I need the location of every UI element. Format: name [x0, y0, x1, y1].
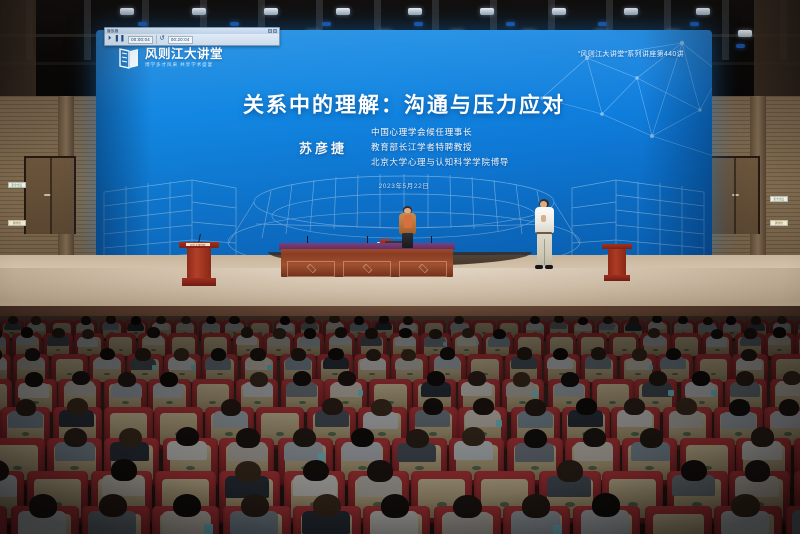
audience-member-head	[174, 348, 189, 361]
audience-member-head	[783, 371, 800, 386]
wall-sign-fire-right: 消防栓	[770, 220, 788, 226]
audience-member-head	[453, 495, 481, 519]
audience-member-head	[554, 316, 564, 323]
audience-member-head	[524, 429, 547, 448]
audience-member-head	[522, 494, 550, 518]
audience-member-head	[367, 460, 393, 481]
upper-wall-right	[754, 0, 800, 96]
upper-wall-left	[0, 0, 36, 96]
audience-member-head	[100, 348, 115, 361]
audience-member-head	[64, 428, 87, 447]
window-buttons[interactable]	[268, 29, 278, 32]
audience-member-head	[530, 316, 540, 324]
audience-member-head	[366, 349, 381, 362]
audience-member-head	[561, 372, 579, 387]
audience-member-head	[666, 348, 681, 361]
seat-badge	[276, 349, 281, 351]
audience-member-head	[703, 317, 713, 325]
stage-light-fixture	[264, 8, 278, 15]
audience-member-head	[119, 428, 142, 447]
seat-badge	[735, 432, 743, 436]
audience-member-head	[578, 317, 588, 325]
audience-member-head	[221, 399, 242, 416]
audience-member-head	[678, 316, 688, 324]
audience-member-head	[591, 347, 606, 360]
audience-member-head	[67, 398, 88, 415]
audience-member-head	[525, 399, 546, 416]
audience-member-head	[423, 398, 444, 415]
audience-member-head	[517, 347, 532, 360]
blue-led-fixture	[690, 22, 699, 26]
audience-member-head	[726, 316, 736, 324]
audience-member-head	[624, 398, 645, 415]
audience-member-head	[52, 328, 65, 338]
divider	[156, 35, 157, 44]
audience-member-head	[379, 316, 389, 324]
wall-sign-exit-right: 安全出口	[770, 196, 788, 202]
seat-badge	[622, 349, 627, 351]
play-icon[interactable]: ⏵	[108, 36, 111, 43]
audience-member-head	[273, 328, 286, 338]
audience-member-head	[176, 427, 199, 446]
series-label: “风则江大讲堂”系列讲座第440讲	[578, 49, 684, 59]
seat-badge	[328, 432, 336, 436]
phone	[788, 327, 791, 330]
audience-member-head	[131, 316, 141, 324]
total-time: 00:20:04	[168, 36, 193, 44]
audience-member-head	[181, 316, 191, 324]
player-window-label: 播放器	[107, 29, 118, 34]
audience-member-head	[328, 348, 343, 361]
audience-member-head	[25, 348, 40, 361]
audience-member-torso	[0, 357, 7, 370]
audience-member-head	[303, 460, 329, 481]
phone	[267, 365, 272, 370]
audience-member-head	[81, 316, 91, 324]
audience-member-head	[329, 316, 339, 323]
speaker-credentials: 中国心理学会候任理事长 教育部长江学者特聘教授 北京大学心理与认知科学学院博导	[371, 126, 509, 168]
audience-member-head	[736, 371, 754, 386]
audience-member-head	[583, 428, 606, 447]
phone	[711, 390, 717, 396]
audience-member-head	[751, 316, 761, 324]
stage-light-fixture	[120, 8, 134, 15]
audience-member-head	[235, 461, 261, 482]
audience-member-head	[335, 327, 348, 337]
podium-left: 绍兴文理学院	[182, 242, 216, 290]
pause-icon[interactable]: ❚❚	[114, 36, 125, 43]
phone	[358, 390, 364, 396]
seat-badge	[784, 432, 792, 436]
stage-light-fixture	[336, 8, 350, 15]
audience-member-head	[493, 329, 506, 339]
audience-member-head	[21, 327, 34, 337]
audience-member-head	[403, 316, 413, 324]
audience-member-head	[291, 348, 306, 361]
phone	[204, 524, 213, 533]
audience-member-head	[111, 459, 137, 480]
audience-member-head	[603, 316, 613, 324]
audience-row	[0, 506, 800, 534]
audience-member-head	[99, 494, 127, 518]
audience-member-head	[338, 371, 356, 386]
audience-member-head	[147, 327, 160, 337]
stage-light-fixture	[624, 8, 638, 15]
audience-member-head	[681, 460, 707, 481]
audience-member-head	[649, 371, 667, 386]
audience-member-head	[462, 427, 485, 446]
maximize-icon[interactable]	[273, 29, 277, 32]
audience-member-head	[351, 428, 374, 447]
podium-nameplate: 绍兴文理学院	[186, 243, 210, 246]
audience-seating	[0, 316, 800, 534]
phone	[152, 365, 157, 370]
minimize-icon[interactable]	[268, 29, 272, 32]
head-table	[281, 243, 453, 277]
audience-member-head	[313, 494, 341, 518]
audience-member-head	[29, 494, 57, 518]
audience-member-head	[354, 316, 364, 324]
audience-member-head	[777, 316, 787, 324]
seat-badge	[22, 432, 30, 436]
seat-badge	[433, 349, 438, 351]
audience-member-head	[731, 494, 759, 518]
stage-light-fixture	[408, 8, 422, 15]
seat-badge	[358, 466, 367, 470]
audience-member-head	[72, 371, 90, 386]
audience-member-head	[557, 460, 583, 481]
blue-led-fixture	[138, 22, 147, 26]
podium-body	[187, 248, 211, 278]
audience-member-head	[652, 316, 662, 323]
blue-led-fixture	[230, 22, 239, 26]
audience-seat	[645, 506, 713, 534]
stage-light-fixture	[480, 8, 494, 15]
seat-badge	[684, 349, 689, 351]
seat-badge	[166, 401, 173, 404]
audience-member-head	[293, 371, 311, 386]
audience-member-head	[429, 329, 442, 339]
blue-led-fixture	[322, 22, 331, 26]
blue-led-fixture	[736, 44, 745, 48]
audience-member-head	[280, 316, 290, 324]
podium-right	[604, 244, 630, 284]
audience-member-head	[322, 398, 343, 415]
audience-member-head	[106, 316, 116, 324]
podium-body	[608, 249, 626, 275]
audience-member-head	[462, 328, 475, 338]
phone	[532, 391, 538, 397]
elapsed-time: 00:00:04	[128, 36, 153, 44]
audience-member-head	[206, 316, 216, 324]
audience-member-head	[676, 398, 697, 415]
phone	[496, 420, 502, 427]
person-host	[398, 206, 418, 250]
stage-light-fixture	[192, 8, 206, 15]
seat-badge	[653, 349, 658, 351]
seat-badge	[225, 432, 233, 436]
audience-member-head	[250, 348, 265, 361]
audience-member-head	[629, 316, 639, 324]
audience-member-head	[744, 328, 757, 338]
audience-member-head	[173, 494, 201, 518]
seat-badge	[645, 466, 654, 470]
seat-badge	[254, 401, 261, 404]
seat-badge	[13, 466, 22, 470]
audience-member-head	[241, 327, 254, 337]
audience-member-head	[553, 348, 568, 361]
seat-badge	[299, 401, 306, 404]
audience-member-head	[381, 494, 409, 518]
audience-member-head	[365, 328, 378, 338]
audience-member-head	[592, 493, 620, 517]
audience-member-head	[25, 372, 43, 387]
audience-member-head	[250, 372, 268, 387]
podium-base	[604, 275, 630, 281]
audience-member-head	[576, 398, 597, 415]
audience-member-head	[8, 316, 18, 324]
audience-member-head	[293, 428, 316, 447]
audience-member-head	[118, 372, 136, 387]
audience-member-head	[406, 429, 429, 448]
brand-name: 风则江大讲堂	[145, 48, 223, 61]
seat-badge	[151, 349, 156, 351]
blue-led-fixture	[414, 22, 423, 26]
slide-title: 关系中的理解：沟通与压力应对	[96, 89, 712, 119]
phone	[443, 342, 447, 346]
wall-sign-fire-left: 消防栓	[8, 220, 26, 226]
media-player-overlay[interactable]: 播放器 ⏵ ❚❚ 00:00:04 ↺ 00:20:04	[104, 27, 280, 46]
audience-member-head	[640, 428, 663, 447]
credential-line: 教育部长江学者特聘教授	[371, 141, 509, 153]
stage-light-fixture	[738, 30, 752, 37]
audience-member-head	[229, 316, 239, 324]
audience-member-head	[440, 347, 455, 360]
audience-member-head	[745, 460, 771, 481]
door-handle	[44, 194, 51, 196]
seat-badge	[429, 432, 437, 436]
seat-back	[653, 514, 704, 534]
loop-icon[interactable]: ↺	[159, 36, 164, 43]
table-skirt	[281, 249, 453, 277]
audience-member-head	[241, 494, 269, 518]
book-logo-icon	[118, 46, 140, 70]
podium-base	[182, 278, 216, 286]
speaker-name: 苏彦捷	[299, 138, 347, 157]
exit-door-left[interactable]	[24, 156, 76, 234]
audience-member-head	[211, 348, 226, 361]
audience-seat	[0, 506, 7, 534]
seat-badge	[378, 432, 386, 436]
door-handle	[732, 194, 739, 196]
audience-member-head	[371, 399, 392, 416]
audience-member-head	[31, 316, 41, 324]
stage-light-fixture	[552, 8, 566, 15]
seat-badge	[715, 349, 720, 351]
audience-member-head	[304, 328, 317, 338]
audience-member-head	[160, 372, 178, 387]
audience-member-head	[741, 349, 756, 362]
lecture-hall-photo: 安全出口 消防栓 安全出口 消防栓	[0, 0, 800, 534]
credential-line: 北京大学心理与认知科学学院博导	[371, 156, 509, 168]
audience-member-head	[711, 329, 724, 339]
lecture-date: 2023年5月22日	[96, 180, 712, 190]
seat-badge	[276, 432, 284, 436]
speaker-block: 苏彦捷 中国心理学会候任理事长 教育部长江学者特聘教授 北京大学心理与认知科学学…	[96, 126, 712, 168]
blue-led-fixture	[506, 22, 515, 26]
audience-member-head	[773, 327, 786, 337]
phone	[649, 365, 654, 370]
wall-sign-exit-left: 安全出口	[8, 182, 26, 188]
person-presenter	[533, 199, 555, 273]
phone	[668, 390, 674, 396]
audience-member-head	[632, 348, 647, 361]
audience-member-torso	[792, 510, 800, 534]
credential-line: 中国心理学会候任理事长	[371, 126, 509, 138]
brand-subtitle: 博学多才风采 共享学术盛宴	[145, 63, 223, 67]
blue-led-fixture	[598, 22, 607, 26]
stage-light-fixture	[696, 8, 710, 15]
audience-member-head	[16, 399, 37, 416]
audience-member-head	[135, 348, 150, 361]
seat-badge	[464, 349, 469, 351]
audience-member-head	[399, 328, 412, 338]
seat-badge	[87, 349, 92, 351]
seat-badge	[122, 401, 129, 404]
audience-member-head	[729, 399, 750, 416]
seat-badge	[631, 432, 639, 436]
phone	[191, 365, 196, 370]
audience-member-head	[468, 371, 486, 386]
audience-member-head	[305, 316, 315, 324]
audience-member-head	[513, 372, 531, 387]
seat-badge	[683, 432, 691, 436]
audience-member-head	[401, 349, 416, 362]
brand-logo: 风则江大讲堂 博学多才风采 共享学术盛宴	[118, 46, 223, 70]
audience-member-head	[427, 371, 445, 386]
exit-door-right[interactable]	[708, 156, 760, 234]
seat-badge	[652, 401, 659, 404]
player-controls[interactable]: ⏵ ❚❚ 00:00:04 ↺ 00:20:04	[105, 34, 279, 45]
phone	[541, 327, 544, 330]
audience-member-head	[751, 427, 774, 446]
audience-member-head	[473, 398, 494, 415]
seat-badge	[777, 349, 782, 351]
audience-member-head	[779, 399, 800, 416]
audience-member-head	[236, 428, 259, 447]
phone	[553, 525, 562, 534]
audience-member-head	[156, 316, 166, 324]
audience-member-head	[692, 371, 710, 386]
audience-member-head	[454, 316, 464, 324]
